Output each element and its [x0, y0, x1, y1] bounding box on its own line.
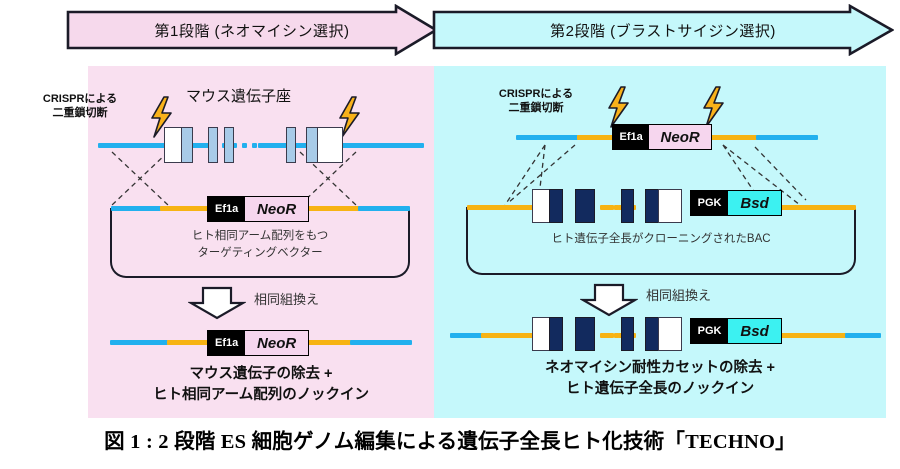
- final-human-strand: [481, 333, 533, 338]
- intron-dots: [604, 205, 619, 210]
- mouse-exon: [224, 127, 234, 163]
- vector-mouse-strand: [358, 206, 410, 211]
- human-utr-box: [658, 317, 682, 351]
- human-utr-box: [658, 189, 682, 223]
- vector-human-arm-strand: [160, 206, 212, 211]
- neor-gene-label: NeoR: [245, 197, 308, 221]
- final-mouse-strand: [845, 333, 881, 338]
- neo-cassette-integrated: Ef1a NeoR: [207, 330, 309, 356]
- vector-mouse-strand: [111, 206, 161, 211]
- result-mouse-strand: [110, 340, 168, 345]
- mouse-locus-title: マウス遺伝子座: [186, 88, 291, 107]
- mouse-exon: [181, 127, 193, 163]
- human-exon: [645, 317, 659, 351]
- bsd-cassette-integrated: PGK Bsd: [690, 318, 782, 344]
- vector-human-arm-strand: [308, 206, 360, 211]
- neor-gene-label: NeoR: [245, 331, 308, 355]
- bsd-gene-label: Bsd: [728, 319, 781, 343]
- result-mouse-strand: [350, 340, 412, 345]
- stage1-result-text: マウス遺伝子の除去 + ヒト相同アーム配列のノックイン: [96, 364, 426, 406]
- stage2-recombination-label: 相同組換え: [646, 288, 711, 304]
- neor-gene-label: NeoR: [649, 125, 711, 149]
- stage1-recombination-label: 相同組換え: [254, 292, 319, 308]
- lightning-bolt-icon: [605, 86, 631, 128]
- stage1-banner-arrow: 第1段階 (ネオマイシン選択): [66, 4, 438, 56]
- mouse-exon: [286, 127, 296, 163]
- human-exon: [549, 317, 563, 351]
- stage2-mouse-strand: [756, 135, 818, 140]
- human-utr-box: [532, 189, 550, 223]
- stage2-mouse-strand: [516, 135, 578, 140]
- human-exon: [621, 189, 634, 223]
- ef1a-promoter-label: Ef1a: [613, 125, 649, 149]
- stage2-banner-arrow: 第2段階 (ブラストサイジン選択): [432, 4, 894, 56]
- ef1a-promoter-label: Ef1a: [208, 331, 245, 355]
- homologous-recombination-arrow: [188, 286, 246, 320]
- lightning-bolt-icon: [700, 86, 726, 128]
- intron-dots: [604, 333, 619, 338]
- final-mouse-strand: [450, 333, 482, 338]
- human-exon: [575, 317, 595, 351]
- stage2-crispr-label: CRISPRによる 二重鎖切断: [470, 88, 602, 116]
- targeting-vector-caption: ヒト相同アーム配列をもつ ターゲティングベクター: [130, 228, 390, 261]
- pgk-promoter-label: PGK: [691, 319, 728, 343]
- neo-cassette-target: Ef1a NeoR: [612, 124, 712, 150]
- neo-cassette: Ef1a NeoR: [207, 196, 309, 222]
- result-human-arm-strand: [167, 340, 211, 345]
- ef1a-promoter-label: Ef1a: [208, 197, 245, 221]
- human-exon: [575, 189, 595, 223]
- stage2-result-text: ネオマイシン耐性カセットの除去 + ヒト遺伝子全長のノックイン: [450, 358, 870, 400]
- human-utr-box: [532, 317, 550, 351]
- mouse-genome-strand: [98, 143, 218, 148]
- homologous-recombination-arrow: [580, 283, 638, 317]
- stage1-crispr-label: CRISPRによる 二重鎖切断: [14, 93, 146, 121]
- stage2-human-arm-strand: [709, 135, 757, 140]
- human-exon: [645, 189, 659, 223]
- pgk-promoter-label: PGK: [691, 191, 728, 215]
- mouse-utr-box: [317, 127, 343, 163]
- mouse-utr-box: [164, 127, 182, 163]
- bac-caption: ヒト遺伝子全長がクローニングされたBAC: [486, 231, 836, 248]
- result-human-arm-strand: [307, 340, 351, 345]
- bsd-cassette: PGK Bsd: [690, 190, 782, 216]
- mouse-exon: [208, 127, 218, 163]
- human-exon: [621, 317, 634, 351]
- bac-human-strand: [780, 205, 856, 210]
- figure-caption: 図 1 : 2 段階 ES 細胞ゲノム編集による遺伝子全長ヒト化技術「TECHN…: [0, 424, 900, 454]
- figure-root: 第1段階 (ネオマイシン選択) 第2段階 (ブラストサイジン選択) CRISPR…: [0, 0, 900, 469]
- human-exon: [549, 189, 563, 223]
- bsd-gene-label: Bsd: [728, 191, 781, 215]
- final-human-strand: [780, 333, 846, 338]
